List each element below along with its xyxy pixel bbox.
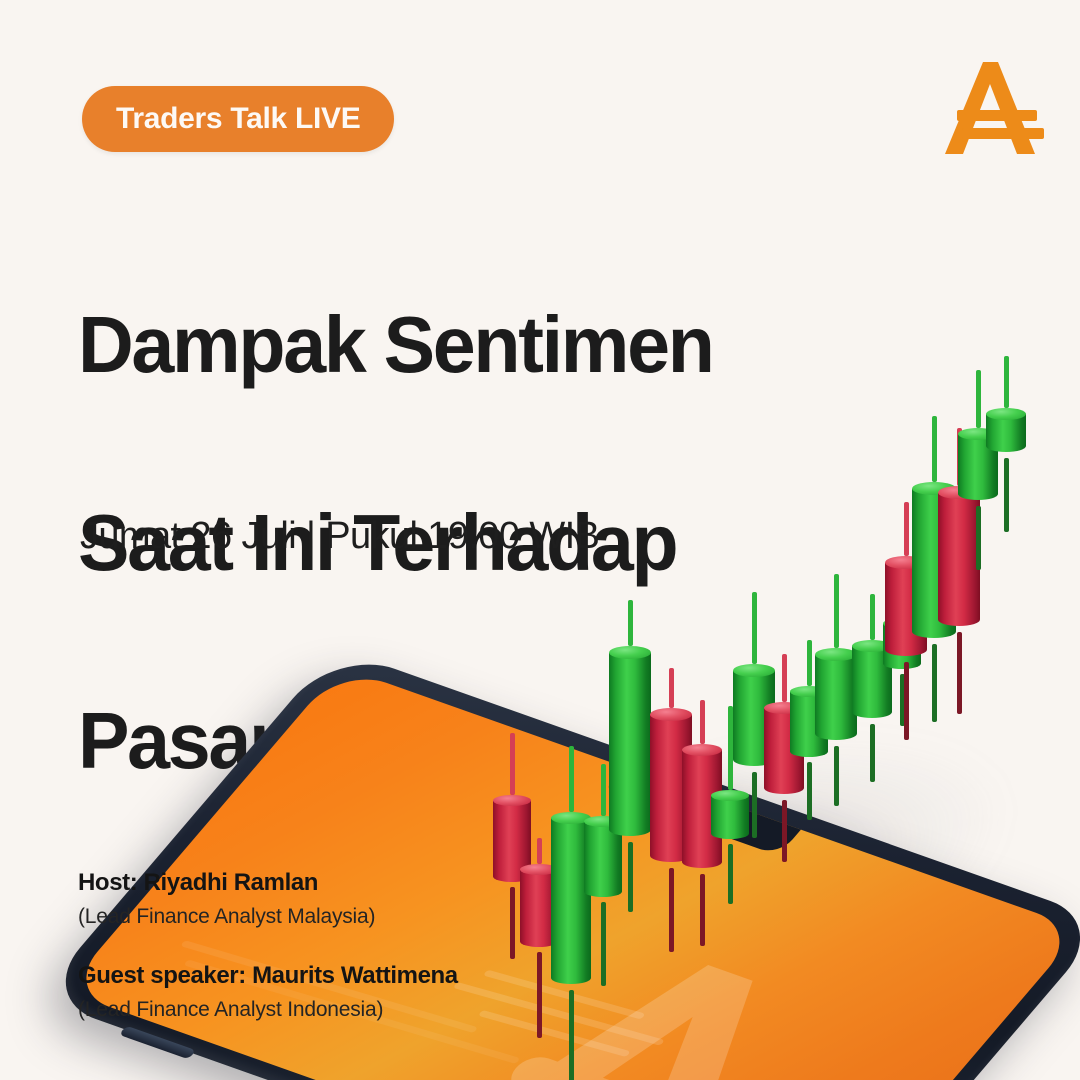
- candlestick-18: [958, 428, 998, 506]
- guest-role: (Lead Finance Analyst Indonesia): [78, 993, 458, 1026]
- poster-canvas: Traders Talk LIVE Dampak Sentimen Saat I…: [0, 0, 1080, 1080]
- candlestick-10: [764, 702, 804, 800]
- host-name: Host: Riyadhi Ramlan: [78, 866, 458, 900]
- headline-line-1: Dampak Sentimen: [78, 295, 713, 394]
- live-badge[interactable]: Traders Talk LIVE: [82, 86, 394, 152]
- candlestick-13: [852, 640, 892, 724]
- candlestick-19: [986, 408, 1026, 458]
- candlestick-9: [733, 664, 775, 772]
- headline-line-3: Pasar: [78, 691, 713, 790]
- live-badge-label: Traders Talk LIVE: [116, 102, 360, 136]
- credits-block: Host: Riyadhi Ramlan (Lead Finance Analy…: [78, 866, 458, 1026]
- candlestick-17: [938, 486, 980, 632]
- brand-a-logo: [940, 58, 1048, 158]
- host-role: (Lead Finance Analyst Malaysia): [78, 900, 458, 933]
- guest-name: Guest speaker: Maurits Wattimena: [78, 959, 458, 993]
- candlestick-14: [883, 618, 921, 674]
- guest-credit: Guest speaker: Maurits Wattimena (Lead F…: [78, 959, 458, 1026]
- candlestick-16: [912, 482, 956, 644]
- candlestick-12: [815, 648, 857, 746]
- candlestick-15: [885, 556, 927, 662]
- candlestick-8: [711, 790, 749, 844]
- candlestick-11: [790, 686, 828, 762]
- schedule-text: Jumat 26 Juli | Pukul 19.00 WIB: [80, 515, 599, 558]
- host-credit: Host: Riyadhi Ramlan (Lead Finance Analy…: [78, 866, 458, 933]
